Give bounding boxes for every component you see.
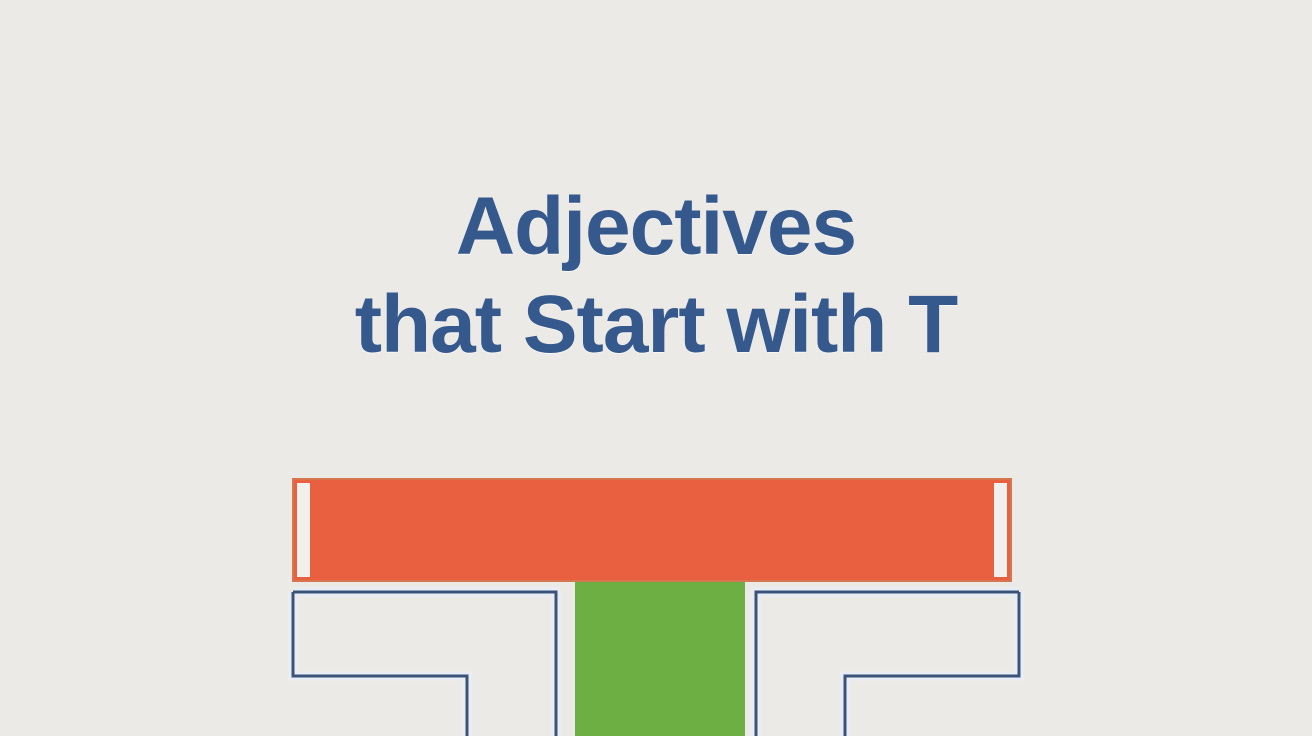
green-stem — [575, 582, 745, 736]
crossbar-left-cap — [297, 483, 310, 577]
page-title-line-2: that Start with T — [0, 284, 1312, 366]
page-title: Adjectives that Start with T — [0, 186, 1312, 366]
red-crossbar — [292, 478, 1012, 582]
slide-canvas: Adjectives that Start with T — [0, 0, 1312, 736]
page-title-line-1: Adjectives — [0, 186, 1312, 268]
crossbar-right-cap — [994, 483, 1007, 577]
